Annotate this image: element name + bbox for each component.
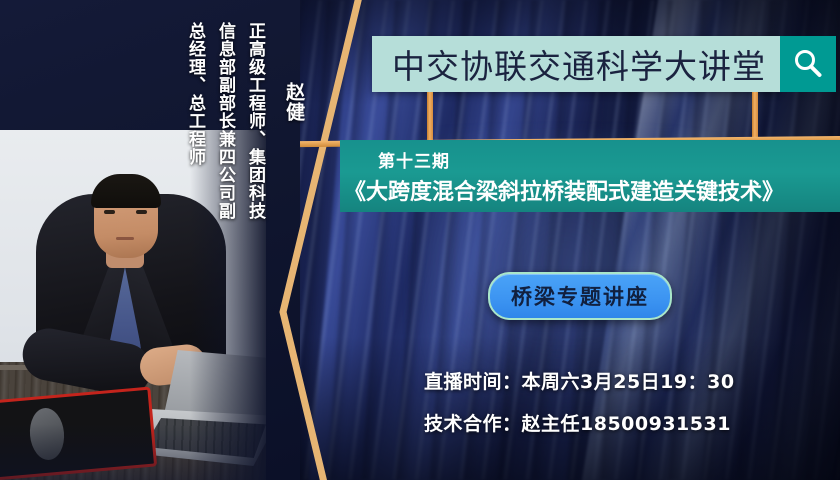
episode-label: 第十三期	[378, 147, 450, 172]
banner-post-right	[752, 92, 758, 140]
subtitle-band: 第十三期 《大跨度混合梁斜拉桥装配式建造关键技术》	[340, 140, 840, 212]
banner-post-left	[427, 92, 433, 140]
topic-badge[interactable]: 桥梁专题讲座	[488, 272, 672, 320]
speaker-credential-line-2: 信息部副部长兼四公司副	[216, 22, 234, 274]
search-icon	[791, 47, 825, 81]
live-time-text: 直播时间：本周六3月25日19：30	[424, 367, 735, 394]
speaker-name: 赵健	[284, 82, 304, 122]
page-title: 中交协联交通科学大讲堂	[372, 40, 766, 88]
speaker-credential-line-3: 总经理、总工程师	[186, 22, 204, 274]
webinar-poster: 总经理、总工程师 信息部副部长兼四公司副 正高级工程师、集团科技 赵健 中交协联…	[0, 0, 840, 480]
search-button[interactable]	[780, 36, 836, 92]
speaker-credential-line-1: 正高级工程师、集团科技	[246, 22, 264, 274]
main-title-banner: 中交协联交通科学大讲堂	[372, 36, 780, 92]
topic-title: 《大跨度混合梁斜拉桥装配式建造关键技术》	[344, 174, 784, 206]
contact-text: 技术合作：赵主任18500931531	[424, 409, 731, 436]
